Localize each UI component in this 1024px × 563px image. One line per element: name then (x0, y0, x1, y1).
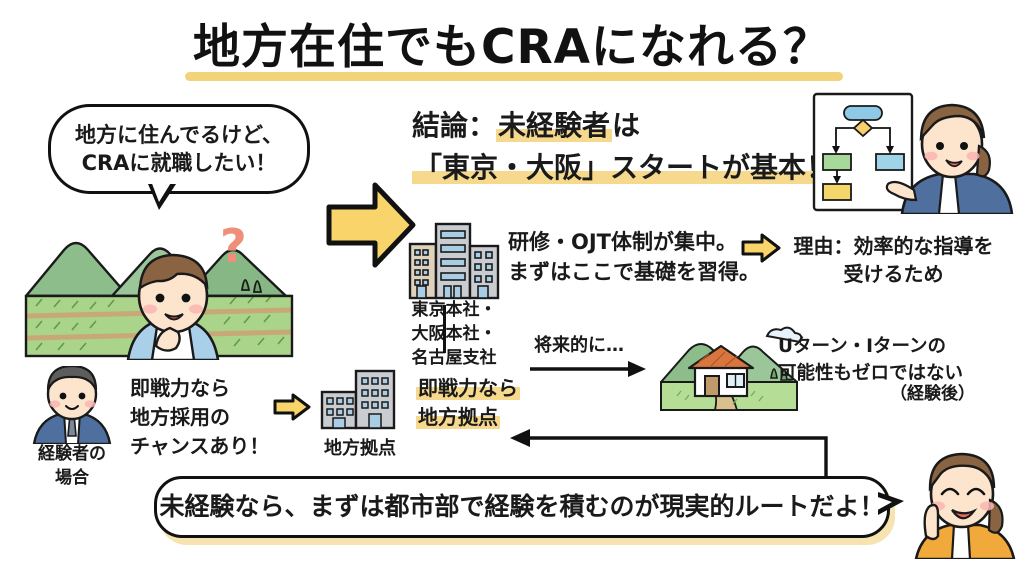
hq-label-line2: 大阪本社・ (412, 324, 497, 344)
experienced-note-line1: 即戦力なら (130, 376, 230, 400)
vertical-connector-line (443, 305, 446, 353)
uturn-line1: Uターン・Iターンの (778, 336, 946, 357)
question-speech-bubble: 地方に住んでるけど、CRAに就職したい！ (48, 104, 310, 194)
advisor-woman-illustration (898, 442, 1020, 559)
title-underline (185, 72, 843, 81)
big-right-arrow-icon (325, 175, 417, 275)
reason-text: 理由：効率的な指導を受けるため (786, 232, 1001, 289)
local-branch-building-icon (318, 368, 402, 430)
local-highlight-line1: 即戦力なら (416, 376, 520, 400)
headquarters-building-icon (406, 222, 502, 300)
small-right-arrow-icon-local (272, 392, 312, 422)
conclusion-line2: 「東京・大阪」スタートが基本！ (412, 150, 807, 186)
ojt-note-line2: まずはここで基礎を習得。 (508, 260, 760, 284)
experienced-label-line1: 経験者の (38, 444, 106, 464)
local-highlight-line2: 地方拠点 (416, 405, 500, 429)
experienced-note-line3: チャンスあり！ (130, 434, 269, 458)
question-bubble-line1: 地方に住んでるけど、 (75, 123, 283, 147)
local-highlight-note: 即戦力なら地方拠点 (416, 374, 520, 432)
hq-label-line3: 名古屋支社 (412, 348, 497, 368)
ojt-note: 研修・OJT体制が集中。まずはここで基礎を習得。 (508, 228, 760, 288)
question-mark-icon: ? (220, 219, 247, 273)
question-bubble-line2: CRAに就職したい！ (82, 151, 277, 175)
future-arrow-icon (530, 358, 648, 380)
conclusion-highlight-1: 未経験者 (496, 109, 612, 142)
question-bubble-tail-fill (151, 181, 172, 202)
conclusion-line1: 結論：未経験者は (412, 108, 807, 144)
infographic-canvas: 地方在住でもCRAになれる？ 地方に住んでるけど、CRAに就職したい！ (0, 0, 1024, 559)
experienced-note-line2: 地方採用の (130, 405, 230, 429)
small-right-arrow-icon-reason (740, 232, 782, 264)
rural-scene-illustration: ? (24, 210, 294, 360)
pointing-finger-icon (925, 505, 938, 539)
conclusion-suffix: は (612, 109, 640, 142)
conclusion-prefix: 結論： (412, 109, 496, 142)
reason-line2: 受けるため (844, 262, 944, 286)
experienced-note: 即戦力なら地方採用のチャンスあり！ (130, 374, 269, 460)
future-label: 将来的に… (534, 334, 624, 357)
hq-label-line1: 東京本社・ (412, 300, 497, 320)
hq-building-label: 東京本社・大阪本社・名古屋支社 (398, 298, 510, 370)
ojt-note-line1: 研修・OJT体制が集中。 (508, 230, 737, 254)
conclusion-highlight-2: 「東京・大阪」スタートが基本！ (412, 151, 836, 184)
experienced-label-line2: 場合 (55, 468, 89, 488)
uturn-note: （経験後） (890, 384, 975, 406)
presenter-illustration (806, 86, 1024, 214)
experienced-avatar-label: 経験者の場合 (18, 443, 126, 491)
summary-bubble-tail-fill (872, 495, 892, 513)
summary-speech-bubble: 未経験なら、まずは都市部で経験を積むのが現実的ルートだよ！ (154, 476, 890, 538)
experienced-person-avatar (30, 366, 114, 444)
summary-bubble-text: 未経験なら、まずは都市部で経験を積むのが現実的ルートだよ！ (159, 491, 884, 523)
page-title: 地方在住でもCRAになれる？ (0, 18, 1024, 78)
reason-line1: 理由：効率的な指導を (794, 234, 994, 258)
local-branch-label: 地方拠点 (306, 437, 414, 460)
conclusion-block: 結論：未経験者は 「東京・大阪」スタートが基本！ (412, 108, 807, 186)
question-bubble-text: 地方に住んでるけど、CRAに就職したい！ (75, 121, 283, 178)
